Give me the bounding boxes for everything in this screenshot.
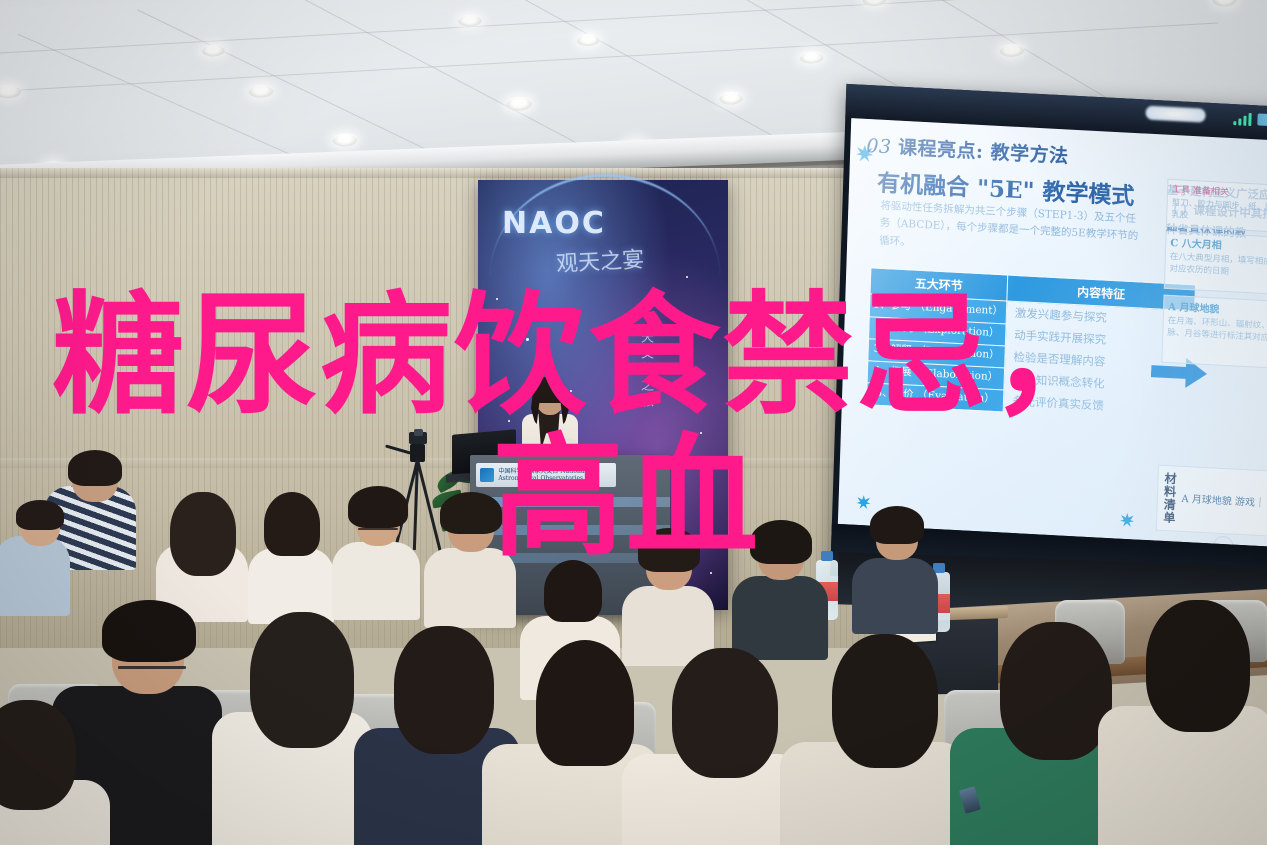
five-e-table: 五大环节 内容特征 1、参与 （Engagement）激发兴趣参与探究 2、探究… [866, 267, 1196, 421]
slide-section-number: 03 [866, 135, 892, 158]
downlight-icon [248, 84, 273, 98]
star-icon [1120, 513, 1134, 528]
backdrop-side-text: 天文的之旅 [636, 330, 655, 410]
slide-surface: 03 课程亮点: 教学方法 有机融合 "5E" 教学模式 将驱动性任务拆解为共三… [838, 118, 1267, 548]
slide-title: 03 课程亮点: 教学方法 [866, 131, 1069, 169]
side-card: C 八大月相 在八大典型月相，填写相应中文名与对应农历的日期 [1164, 231, 1267, 297]
eyeglasses [118, 666, 186, 669]
backdrop-org-abbr: NAOC [502, 206, 606, 241]
side-card-text: 在八大典型月相，填写相应中文名与对应农历的日期 [1165, 251, 1267, 286]
downlight-icon [506, 96, 533, 111]
downlight-icon [799, 51, 823, 64]
downlight-icon [332, 133, 357, 147]
side-card-text: 在月海、环形山、辐射纹、月陆、山脉、月谷等进行标注其对应的名称 [1163, 315, 1267, 350]
downlight-icon [719, 91, 743, 105]
star-icon [856, 495, 870, 510]
downlight-icon [202, 44, 225, 57]
side-card-text: 剪刀、胶力与脚步、纸、圆球纸、白乳胶 [1167, 197, 1267, 232]
downlight-icon [576, 34, 599, 47]
camera-lens-icon [414, 429, 423, 436]
screen-led-strip [1145, 106, 1205, 123]
photo-canvas: NAOC 观天之宴 天文的之旅 03 课程亮点: 教学方法 有机融合 "5E" … [0, 0, 1267, 845]
materials-text: A 月球地貌 游戏｜ [1181, 491, 1265, 510]
lectern-sign: 中国科学院国家天文台 National Astronomical Observa… [476, 463, 616, 487]
downlight-icon [1212, 0, 1236, 7]
materials-label: 材料清单 [1162, 472, 1176, 525]
status-chip [1257, 113, 1267, 127]
slide-title-text: 课程亮点: 教学方法 [898, 137, 1069, 168]
side-card: 工具 准备相关 剪刀、胶力与脚步、纸、圆球纸、白乳胶 [1166, 179, 1267, 235]
lectern-sign-text: 中国科学院国家天文台 National Astronomical Observa… [498, 468, 612, 483]
backdrop-org-name: 观天之宴 [555, 242, 645, 279]
materials-row: 材料清单 A 月球地貌 游戏｜ [1156, 465, 1267, 539]
downlight-icon [999, 43, 1024, 57]
downlight-icon [862, 0, 886, 6]
downlight-icon [0, 84, 22, 99]
side-card: A 月球地貌 在月海、环形山、辐射纹、月陆、山脉、月谷等进行标注其对应的名称 [1161, 295, 1267, 371]
observatory-logo-icon [480, 468, 494, 482]
signal-bars-icon [1233, 112, 1251, 126]
